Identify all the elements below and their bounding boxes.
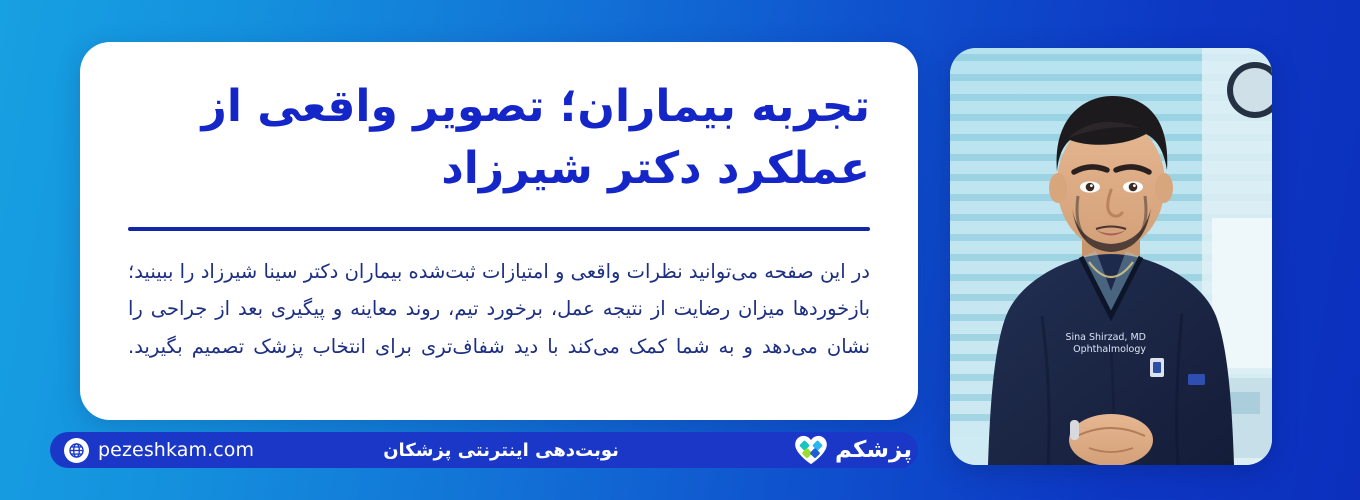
globe-icon <box>64 438 89 463</box>
content-card: تجربه بیماران؛ تصویر واقعی از عملکرد دکت… <box>80 42 918 420</box>
description-text: در این صفحه می‌توانید نظرات واقعی و امتی… <box>128 253 870 365</box>
site-url-label: pezeshkam.com <box>98 439 254 461</box>
doctor-photo: Sina Shirzad, MD Ophthalmology <box>950 48 1272 465</box>
heart-diamonds-logo-icon <box>794 435 828 465</box>
brand-logo[interactable]: پزشکم <box>788 435 912 465</box>
promo-banner: تجربه بیماران؛ تصویر واقعی از عملکرد دکت… <box>0 0 1360 500</box>
title-divider <box>128 227 870 231</box>
brand-name-label: پزشکم <box>835 437 912 463</box>
scrub-embroidery-name: Sina Shirzad, MD <box>1065 332 1146 343</box>
page-title: تجربه بیماران؛ تصویر واقعی از عملکرد دکت… <box>124 76 874 201</box>
doctor-portrait-illustration: Sina Shirzad, MD Ophthalmology <box>950 48 1272 465</box>
site-link[interactable]: pezeshkam.com <box>64 438 254 463</box>
footer-bar: pezeshkam.com نوبت‌دهی اینترنتی پزشکان پ… <box>50 432 918 468</box>
footer-tagline: نوبت‌دهی اینترنتی پزشکان <box>254 440 788 461</box>
scrub-embroidery-specialty: Ophthalmology <box>1073 344 1146 355</box>
